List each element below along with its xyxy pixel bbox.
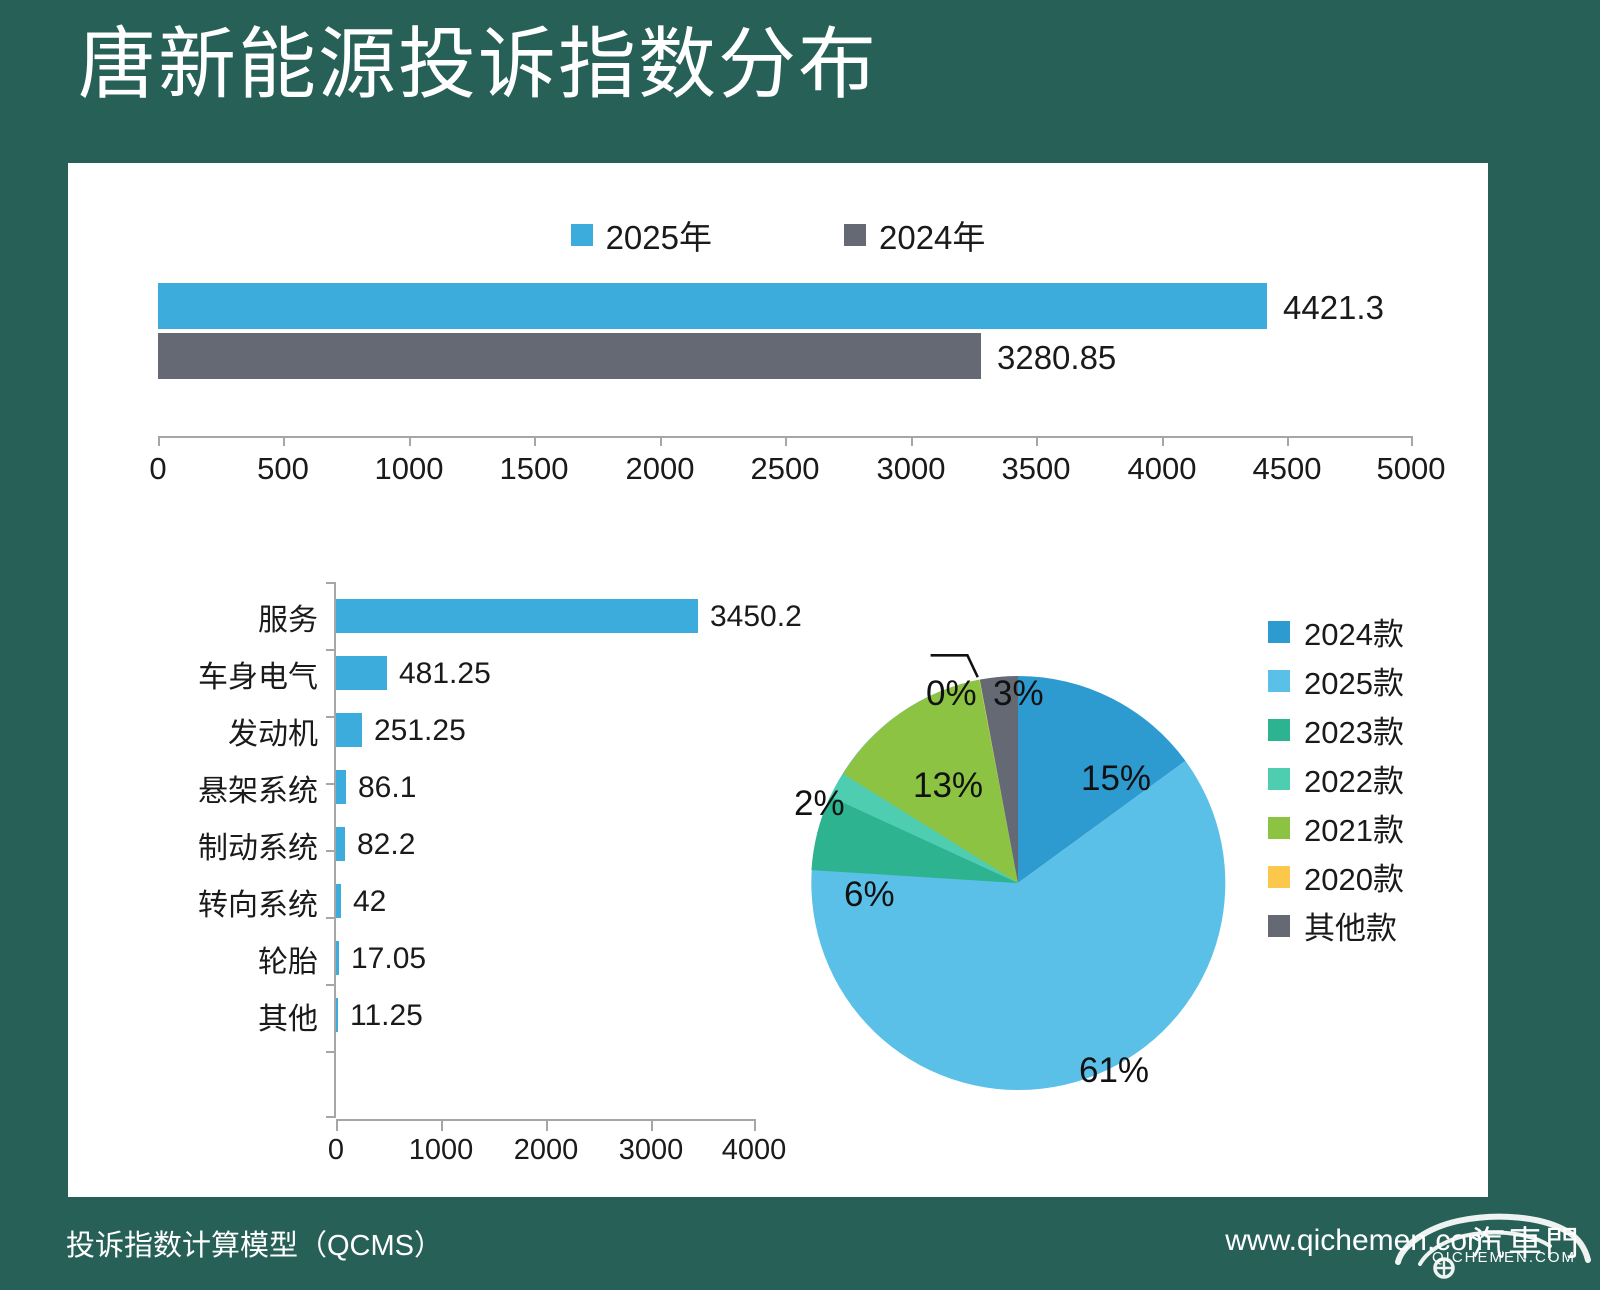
axis-tick [785,436,787,446]
axis-tick [1287,436,1289,446]
pie-legend-item-label: 2021款 [1304,805,1404,850]
legend-swatch-icon [1268,768,1290,790]
category-label: 悬架系统 [98,759,330,816]
bar-row: 82.2 [336,816,756,873]
axis-tick [911,436,913,446]
category-label: 服务 [98,588,330,645]
bar-value-label: 4421.3 [1283,289,1384,327]
axis-tick [1162,436,1164,446]
axis-tick-label: 3000 [619,1134,684,1167]
bar-value-label: 86.1 [358,771,416,805]
bar-row: 42 [336,873,756,930]
bar-fill[interactable] [336,599,698,633]
axis-tick-label: 3000 [877,451,946,487]
bar-fill[interactable] [336,656,387,690]
axis-tick-label: 3500 [1002,451,1071,487]
bar-fill[interactable] [336,998,338,1032]
pie-label-2023: 6% [844,875,895,915]
axis-tick [651,1121,653,1131]
axis-tick-label: 1000 [409,1134,474,1167]
bar-fill[interactable] [336,827,345,861]
bar-fill[interactable] [336,884,341,918]
bar-value-label: 3280.85 [997,339,1116,377]
pie-legend-item-2022[interactable]: 2022款 [1268,754,1478,803]
pie-label-2024: 15% [1081,759,1151,799]
bar-row: 11.25 [336,987,756,1044]
footer-model-note: 投诉指数计算模型（QCMS） [66,1222,443,1264]
top-chart-axis-ticks [158,436,1413,446]
top-chart-plot-area: 4421.3 3280.85 [158,283,1413,403]
axis-tick-label: 2500 [751,451,820,487]
pie-legend-item-2023[interactable]: 2023款 [1268,705,1478,754]
axis-tick-label: 0 [149,451,166,487]
axis-tick [546,1121,548,1131]
bar-2024[interactable] [158,333,981,379]
legend-swatch-icon [844,224,866,246]
bar-row: 3450.2 [336,588,756,645]
bar-value-label: 11.25 [350,999,423,1033]
category-label: 车身电气 [98,645,330,702]
axis-tick [409,436,411,446]
legend-swatch-icon [1268,719,1290,741]
axis-tick [534,436,536,446]
axis-tick [326,649,334,651]
pie-legend-item-other[interactable]: 其他款 [1268,901,1478,950]
axis-tick-label: 5000 [1377,451,1446,487]
axis-tick [283,436,285,446]
bar-value-label: 251.25 [374,714,466,748]
legend-swatch-icon [571,224,593,246]
legend-item-label: 2025年 [606,211,712,259]
pie-legend-item-label: 2022款 [1304,756,1404,801]
pie-label-2021: 13% [913,766,983,806]
bar-row: 17.05 [336,930,756,987]
bar-fill[interactable] [336,770,346,804]
bar-fill[interactable] [336,941,339,975]
bar-row: 251.25 [336,702,756,759]
legend-swatch-icon [1268,866,1290,888]
model-year-pie-chart: 15% 61% 6% 2% 13% 0% 3% 2024款 2025款 2023… [758,593,1488,1153]
axis-tick-label: 0 [328,1134,344,1167]
axis-tick [326,850,334,852]
bar-row: 4421.3 [158,283,1413,333]
axis-tick [336,1121,338,1131]
pie-legend: 2024款 2025款 2023款 2022款 2021款 2020款 [1268,607,1478,950]
bar-row: 481.25 [336,645,756,702]
pie-legend-item-label: 2023款 [1304,707,1404,752]
watermark-brand-en: QICHEMEN.COM [1432,1249,1576,1266]
axis-tick-label: 1000 [375,451,444,487]
axis-tick-label: 500 [257,451,309,487]
pie-legend-item-2025[interactable]: 2025款 [1268,656,1478,705]
category-label: 发动机 [98,702,330,759]
bar-2025[interactable] [158,283,1267,329]
category-label: 轮胎 [98,930,330,987]
category-label: 制动系统 [98,816,330,873]
legend-swatch-icon [1268,915,1290,937]
category-chart-plot-area: 3450.2 481.25 251.25 86.1 82.2 42 [336,588,756,1044]
bar-row: 3280.85 [158,333,1413,383]
legend-item-label: 2024年 [879,211,985,259]
axis-tick [754,1121,756,1131]
axis-tick [326,917,334,919]
page-title: 唐新能源投诉指数分布 [78,20,878,110]
axis-tick [1036,436,1038,446]
category-bar-chart: 服务 车身电气 发动机 悬架系统 制动系统 转向系统 轮胎 其他 3450.2 [98,578,788,1178]
axis-tick [158,436,160,446]
pie-label-2022: 2% [794,784,845,824]
pie-legend-item-2020[interactable]: 2020款 [1268,852,1478,901]
category-label: 转向系统 [98,873,330,930]
category-chart-vertical-ticks [326,582,334,1118]
chart-card: 2025年 2024年 4421.3 3280.85 [68,163,1488,1197]
category-label: 其他 [98,987,330,1044]
annual-comparison-chart: 2025年 2024年 4421.3 3280.85 [68,163,1488,503]
axis-tick-label: 1500 [500,451,569,487]
bar-value-label: 42 [353,885,386,919]
axis-tick [326,1116,334,1118]
bar-fill[interactable] [336,713,362,747]
legend-swatch-icon [1268,817,1290,839]
axis-tick-label: 2000 [514,1134,579,1167]
axis-tick-label: 4000 [1128,451,1197,487]
axis-tick-label: 4500 [1253,451,1322,487]
axis-tick [441,1121,443,1131]
axis-tick [326,984,334,986]
pie-plot-area: 15% 61% 6% 2% 13% 0% 3% [788,653,1248,1113]
pie-label-2020: 0% [926,674,977,714]
axis-tick [326,716,334,718]
pie-legend-item-label: 其他款 [1304,903,1397,948]
bar-value-label: 82.2 [357,828,415,862]
legend-swatch-icon [1268,621,1290,643]
category-chart-horizontal-ticks [336,1121,756,1130]
axis-tick [660,436,662,446]
pie-legend-item-label: 2025款 [1304,658,1404,703]
top-chart-axis-labels: 0 500 1000 1500 2000 2500 3000 3500 4000… [158,451,1413,491]
pie-legend-item-label: 2020款 [1304,854,1404,899]
pie-label-other: 3% [993,674,1044,714]
legend-item-2024[interactable]: 2024年 [844,211,985,259]
pie-legend-item-2021[interactable]: 2021款 [1268,803,1478,852]
bar-value-label: 17.05 [351,942,426,976]
axis-tick-label: 2000 [626,451,695,487]
pie-legend-item-label: 2024款 [1304,609,1404,654]
pie-label-2025: 61% [1079,1051,1149,1091]
axis-tick [1411,436,1413,446]
bar-value-label: 481.25 [399,657,491,691]
axis-tick [326,582,334,584]
category-chart-axis-labels: 0 1000 2000 3000 4000 [336,1134,756,1174]
category-axis-labels: 服务 车身电气 发动机 悬架系统 制动系统 转向系统 轮胎 其他 [98,588,330,1044]
legend-swatch-icon [1268,670,1290,692]
bar-row: 86.1 [336,759,756,816]
top-chart-legend: 2025年 2024年 [68,211,1488,259]
pie-legend-item-2024[interactable]: 2024款 [1268,607,1478,656]
axis-tick [326,1051,334,1053]
legend-item-2025[interactable]: 2025年 [571,211,712,259]
axis-tick [326,783,334,785]
